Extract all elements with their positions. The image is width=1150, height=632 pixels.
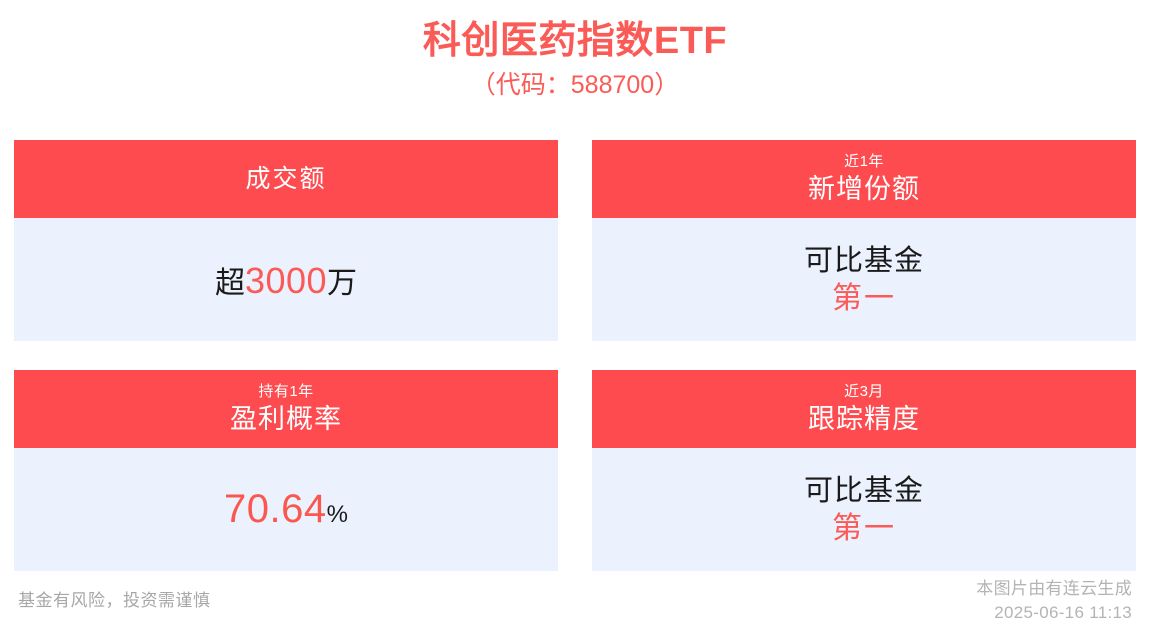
card-title-tracking-accuracy: 跟踪精度 (808, 402, 920, 436)
new-shares-peer-label: 可比基金 (804, 242, 924, 280)
profit-probability-number: 70.64 (224, 487, 327, 532)
generation-source: 本图片由有连云生成 (976, 577, 1132, 601)
card-title-new-shares: 新增份额 (808, 172, 920, 206)
card-title-profit-probability: 盈利概率 (230, 402, 342, 436)
card-kicker-tracking-accuracy: 近3月 (844, 382, 884, 402)
new-shares-rank-value: 第一 (832, 280, 896, 318)
metric-card-turnover[interactable]: 成交额 超 3000 万 (14, 140, 558, 341)
card-body-turnover: 超 3000 万 (14, 218, 558, 341)
generation-credit: 本图片由有连云生成 2025-06-16 11:13 (976, 567, 1132, 625)
tracking-accuracy-peer-label: 可比基金 (804, 472, 924, 510)
turnover-value-number: 3000 (245, 260, 327, 302)
turnover-value-unit: 万 (327, 258, 357, 302)
metric-card-grid: 成交额 超 3000 万 近1年 新增份额 可比基金 第一 持有1年 盈利概率 … (14, 140, 1136, 571)
card-kicker-profit-probability: 持有1年 (258, 382, 313, 402)
card-header-turnover: 成交额 (14, 140, 558, 218)
card-header-new-shares: 近1年 新增份额 (592, 140, 1136, 218)
profit-probability-value: 70.64 % (224, 487, 348, 532)
metric-card-new-shares[interactable]: 近1年 新增份额 可比基金 第一 (592, 140, 1136, 341)
card-body-new-shares: 可比基金 第一 (592, 218, 1136, 341)
tracking-accuracy-rank-value: 第一 (832, 510, 896, 548)
page-title: 科创医药指数ETF (0, 16, 1150, 66)
generation-timestamp: 2025-06-16 11:13 (976, 601, 1132, 625)
profit-probability-unit: % (327, 501, 348, 529)
footer: 基金有风险，投资需谨慎 本图片由有连云生成 2025-06-16 11:13 (0, 567, 1150, 632)
risk-disclaimer: 基金有风险，投资需谨慎 (18, 567, 211, 613)
fund-code-subtitle: （代码：588700） (0, 66, 1150, 104)
page-header: 科创医药指数ETF （代码：588700） (0, 0, 1150, 104)
card-header-profit-probability: 持有1年 盈利概率 (14, 370, 558, 448)
card-header-tracking-accuracy: 近3月 跟踪精度 (592, 370, 1136, 448)
turnover-value: 超 3000 万 (215, 258, 357, 302)
card-kicker-new-shares: 近1年 (844, 152, 884, 172)
card-body-tracking-accuracy: 可比基金 第一 (592, 448, 1136, 571)
card-body-profit-probability: 70.64 % (14, 448, 558, 571)
card-title-turnover: 成交额 (245, 164, 326, 194)
metric-card-profit-probability[interactable]: 持有1年 盈利概率 70.64 % (14, 370, 558, 571)
metric-card-tracking-accuracy[interactable]: 近3月 跟踪精度 可比基金 第一 (592, 370, 1136, 571)
turnover-value-prefix: 超 (215, 258, 245, 302)
